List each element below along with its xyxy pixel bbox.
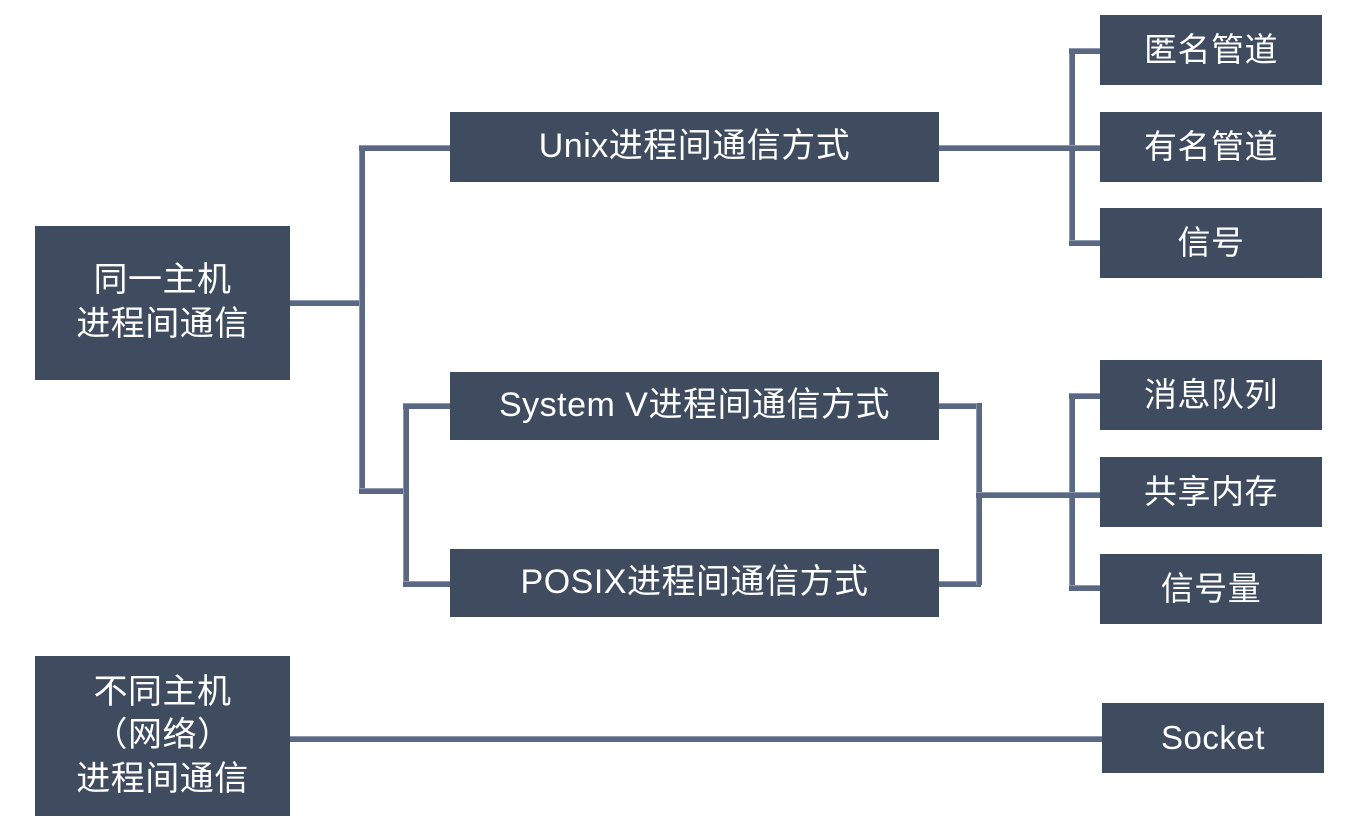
connector-root-trunk [359,145,365,493]
connector-subtrunk-to-systemv [403,403,454,409]
connector-trunk-to-named-pipe [1069,145,1104,151]
node-signal[interactable]: 信号 [1100,208,1322,278]
connector-trunk-to-message-queue [1069,393,1104,399]
connector-systemv-right-trunk [1069,393,1075,589]
node-unix-ipc[interactable]: Unix进程间通信方式 [450,112,939,182]
connector-trunk-to-unix [359,145,454,151]
connector-trunk-to-signal [1069,240,1104,246]
node-posix-ipc[interactable]: POSIX进程间通信方式 [450,549,939,617]
node-same-host-ipc[interactable]: 同一主机 进程间通信 [35,226,290,380]
node-anonymous-pipe[interactable]: 匿名管道 [1100,15,1322,85]
connector-posix-stub [938,581,981,587]
connector-subtrunk-to-posix [403,581,454,587]
connector-diffhost-to-socket [290,736,1104,742]
node-different-host-ipc[interactable]: 不同主机 （网络） 进程间通信 [35,656,290,816]
ipc-diagram-canvas: 同一主机 进程间通信 不同主机 （网络） 进程间通信 Unix进程间通信方式 S… [0,0,1352,823]
node-message-queue[interactable]: 消息队列 [1100,360,1322,430]
node-shared-memory[interactable]: 共享内存 [1100,457,1322,527]
connector-trunk-to-subgroup [359,488,408,494]
connector-unix-stub [938,145,1074,151]
node-semaphore[interactable]: 信号量 [1100,554,1322,624]
node-named-pipe[interactable]: 有名管道 [1100,112,1322,182]
connector-trunk-to-shared-memory [1069,492,1104,498]
connector-trunk-to-anonymous-pipe [1069,48,1104,54]
connector-root-stub [290,300,364,306]
connector-merge-to-right-trunk [976,492,1074,498]
connector-trunk-to-semaphore [1069,585,1104,591]
connector-systemv-stub [938,403,981,409]
connector-subgroup-trunk [403,403,409,585]
node-systemv-ipc[interactable]: System V进程间通信方式 [450,372,939,440]
node-socket[interactable]: Socket [1102,703,1324,773]
